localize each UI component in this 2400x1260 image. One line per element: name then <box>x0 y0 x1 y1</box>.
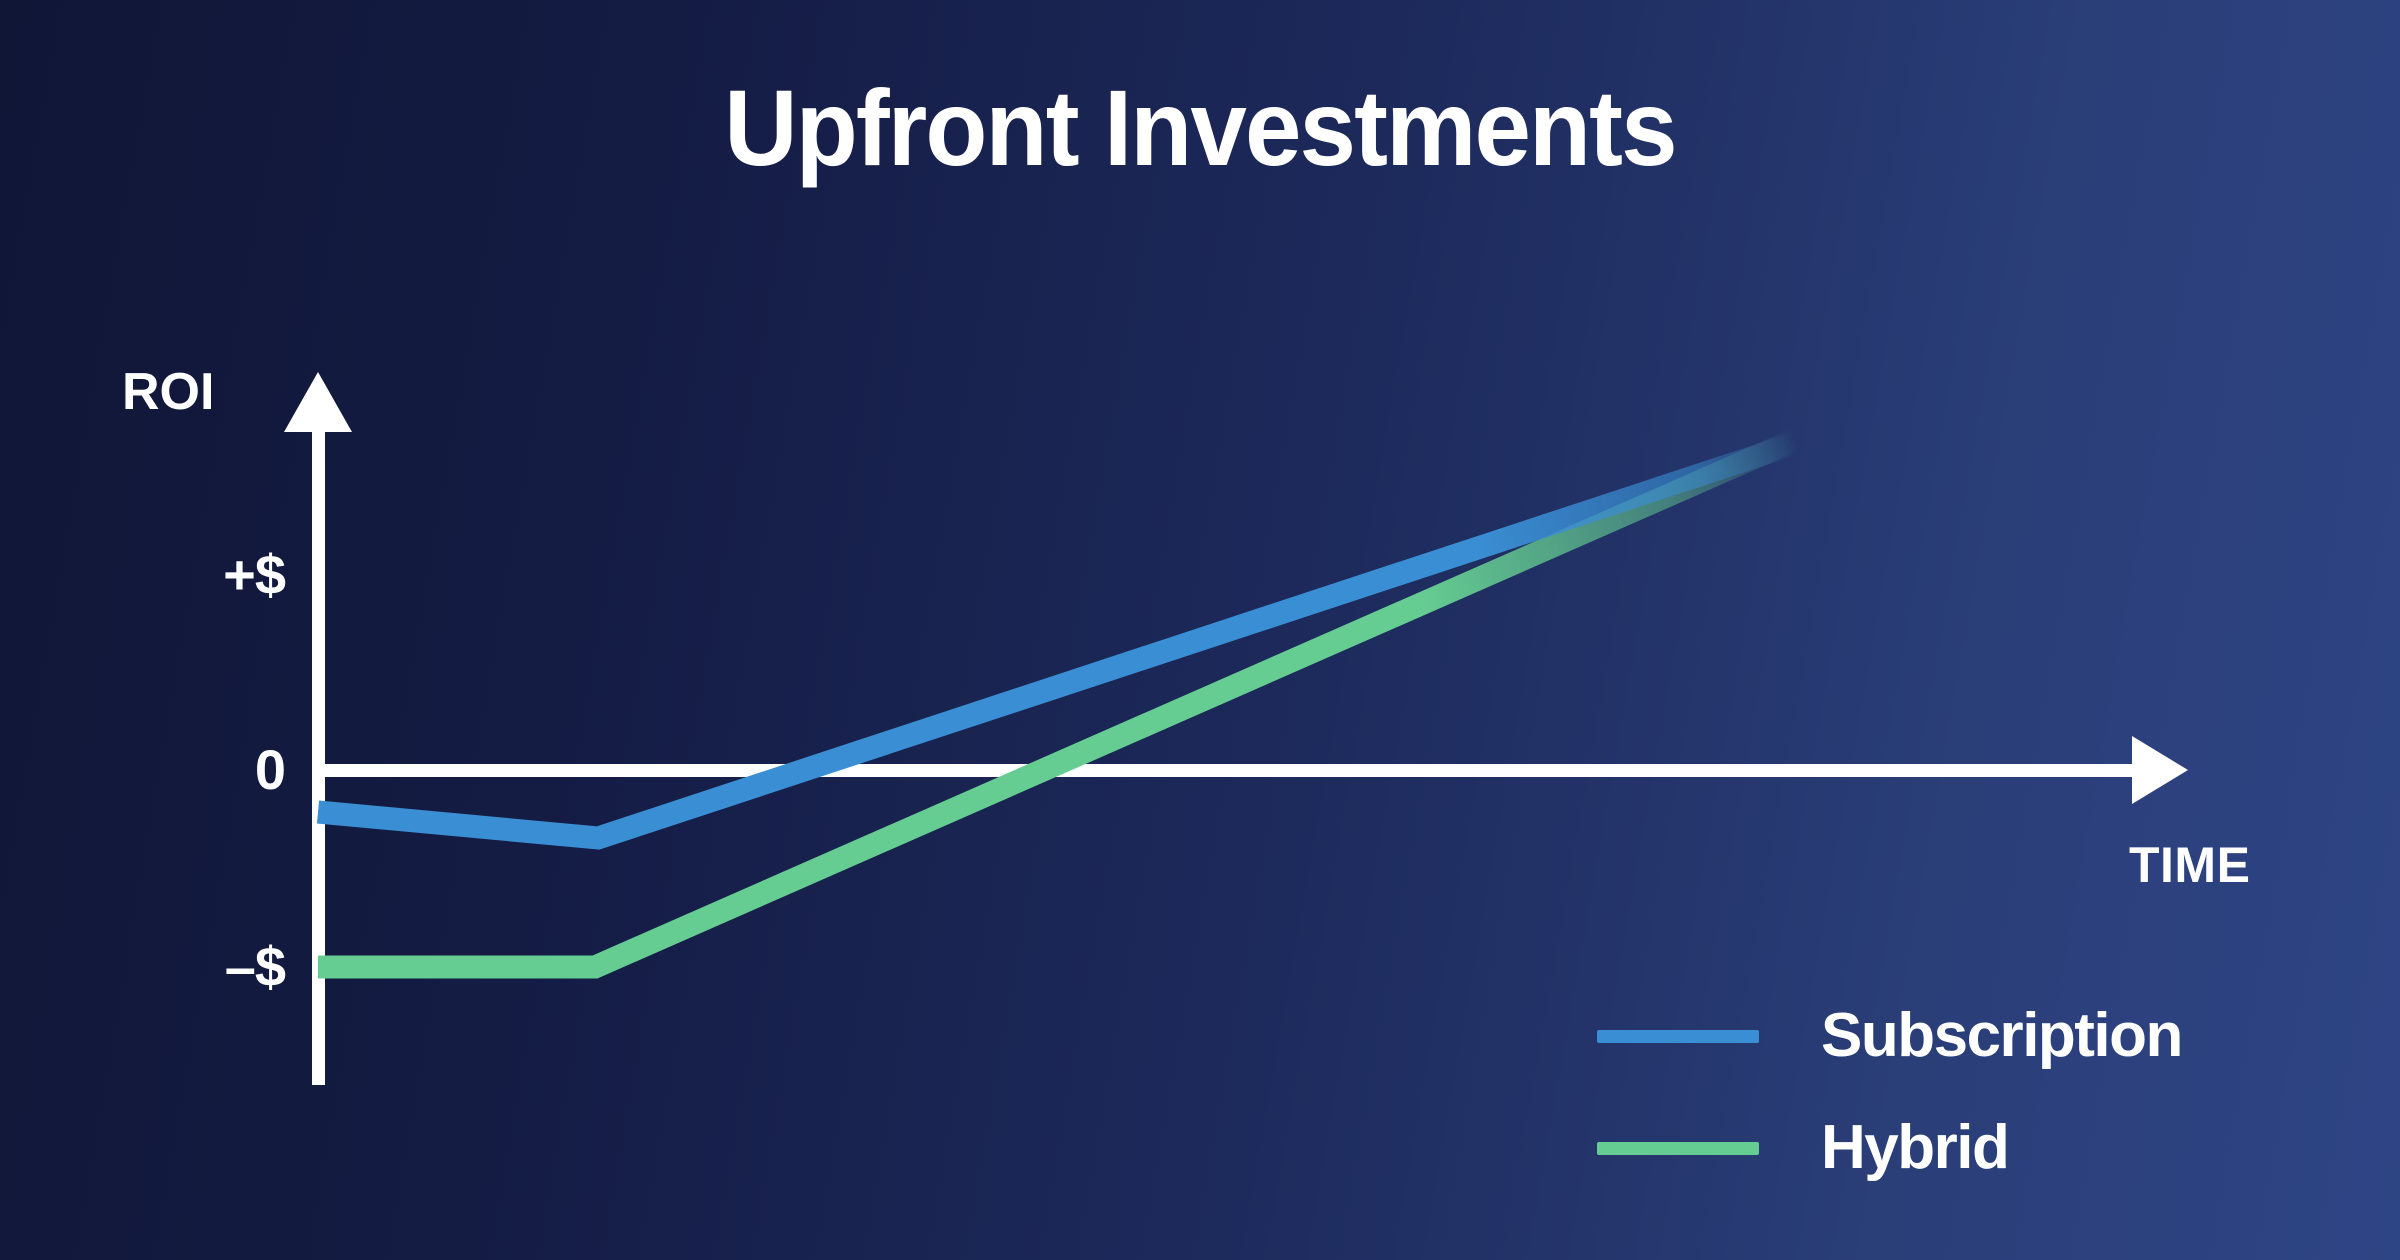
legend-swatch-hybrid <box>1597 1142 1759 1155</box>
chart-canvas: Upfront Investments ROI TIME +$ 0 –$ Sub… <box>0 0 2400 1260</box>
series-line-subscription <box>318 443 1795 838</box>
y-axis-label: ROI <box>122 366 214 418</box>
y-tick-label-zero: 0 <box>255 742 285 798</box>
chart-title: Upfront Investments <box>72 74 2328 182</box>
legend-label-subscription: Subscription <box>1821 1005 2182 1067</box>
y-tick-label-positive: +$ <box>223 547 285 603</box>
legend-label-hybrid: Hybrid <box>1821 1117 2008 1179</box>
chart-legend: Subscription Hybrid <box>1597 980 2297 1204</box>
x-axis <box>312 736 2188 804</box>
legend-item-hybrid[interactable]: Hybrid <box>1597 1092 2297 1204</box>
legend-swatch-subscription <box>1597 1030 1759 1043</box>
y-tick-label-negative: –$ <box>225 939 285 995</box>
legend-item-subscription[interactable]: Subscription <box>1597 980 2297 1092</box>
